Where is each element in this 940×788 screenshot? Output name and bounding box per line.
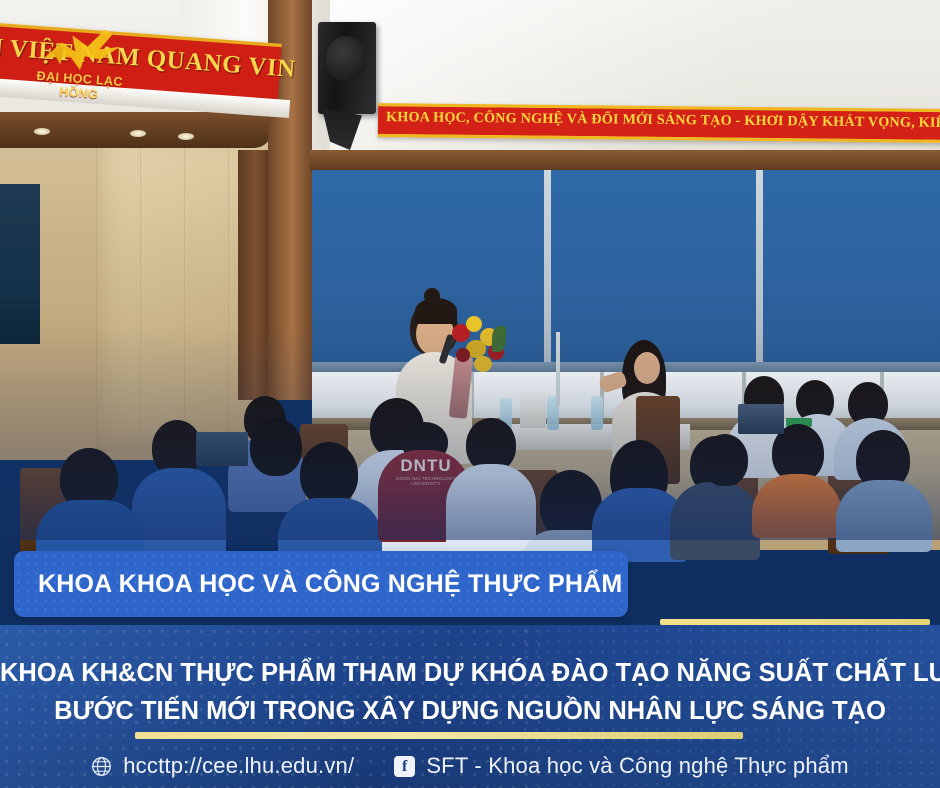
globe-icon — [91, 756, 112, 777]
website-contact[interactable]: hccttp://cee.lhu.edu.vn/ — [91, 753, 354, 779]
faculty-title-bar: KHOA KHOA HỌC VÀ CÔNG NGHỆ THỰC PHẨM — [14, 551, 628, 617]
website-url: hccttp://cee.lhu.edu.vn/ — [123, 753, 354, 779]
headline-line-2: BƯỚC TIẾN MỚI TRONG XÂY DỰNG NGUỒN NHÂN … — [0, 697, 940, 726]
headline-line-1: KHOA KH&CN THỰC PHẨM THAM DỰ KHÓA ĐÀO TẠ… — [0, 659, 940, 688]
facebook-contact[interactable]: f SFT - Khoa học và Công nghệ Thực phẩm — [394, 753, 848, 779]
facebook-icon: f — [394, 756, 415, 777]
gold-accent-rule-underline — [135, 732, 743, 739]
contact-row: hccttp://cee.lhu.edu.vn/ f SFT - Khoa họ… — [0, 748, 940, 784]
facebook-page-name: SFT - Khoa học và Công nghệ Thực phẩm — [426, 753, 848, 779]
photo-gradient-overlay — [0, 0, 940, 540]
poster-canvas: ÂN VIỆT NAM QUANG VINH MUÔN N KHOA HỌC, … — [0, 0, 940, 788]
faculty-title-text: KHOA KHOA HỌC VÀ CÔNG NGHỆ THỰC PHẨM — [38, 570, 622, 599]
